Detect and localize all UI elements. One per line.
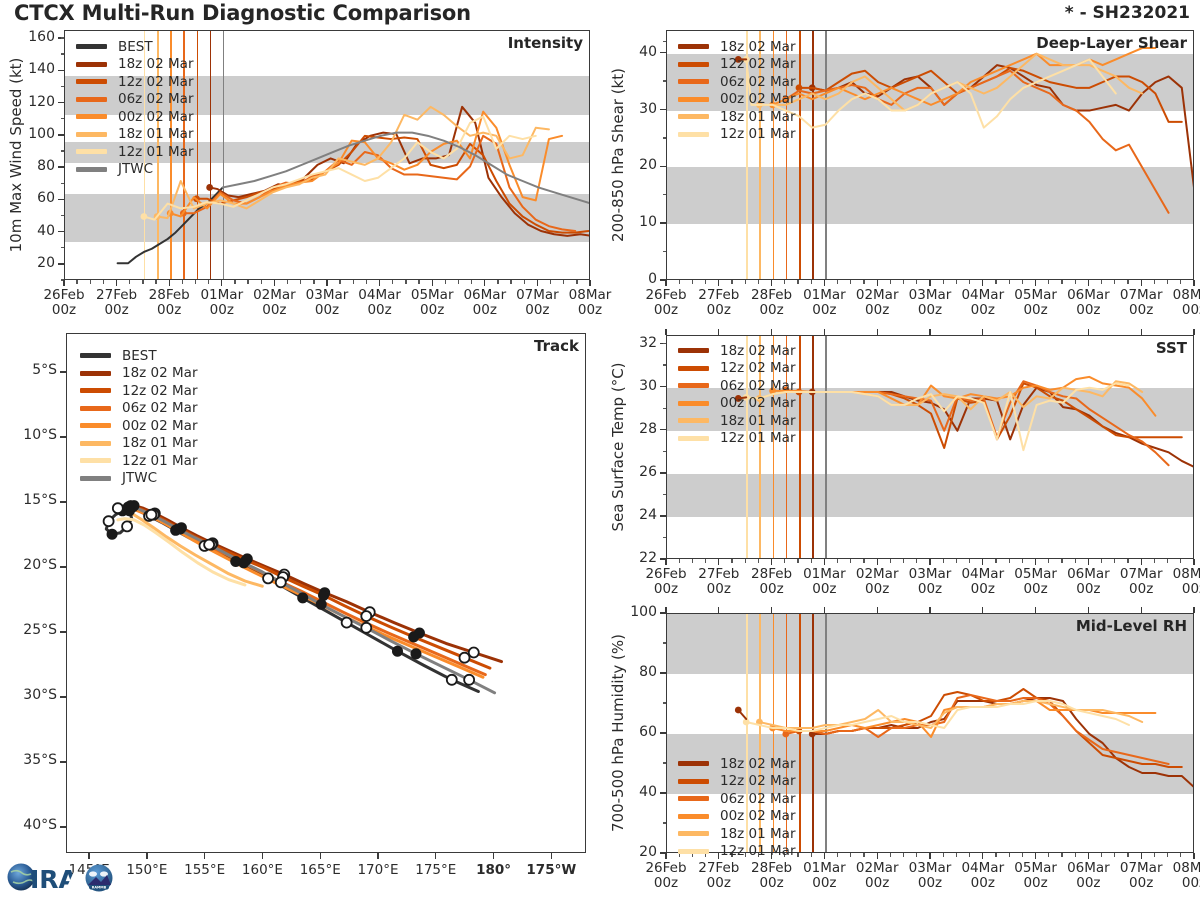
legend-swatch — [80, 353, 111, 358]
x-tick-mark — [877, 280, 878, 286]
y-tick-minor — [663, 537, 667, 538]
x-tick-minor — [1101, 559, 1102, 563]
svg-text:RAMMB: RAMMB — [92, 886, 107, 890]
x-tick-mark — [1193, 559, 1194, 565]
legend-swatch — [678, 849, 709, 854]
legend-item: 06z 02 Mar — [678, 377, 796, 395]
x-tick-minor — [863, 559, 864, 563]
legend-label: 12z 02 Mar — [118, 74, 194, 90]
legend-item: 12z 01 Mar — [76, 143, 194, 161]
x-tick-mark — [146, 853, 147, 859]
y-tick-label: 0 — [648, 272, 657, 286]
y-tick-mark — [58, 263, 64, 264]
legend-item: 18z 02 Mar — [678, 342, 796, 360]
x-tick-minor — [811, 280, 812, 284]
legend-swatch — [678, 62, 709, 67]
x-tick-mark — [771, 280, 772, 286]
legend-item: JTWC — [76, 161, 194, 179]
y-axis-label-rh: 700-500 hPa Humidity (%) — [609, 634, 627, 832]
x-tick-mark — [1035, 559, 1036, 565]
x-tick-minor — [142, 280, 143, 284]
x-tick-minor — [890, 280, 891, 284]
x-tick-minor — [1075, 280, 1076, 284]
y-tick-mark — [60, 826, 66, 827]
y-tick-label: 100 — [630, 605, 657, 619]
legend-item: 18z 01 Mar — [678, 825, 796, 843]
legend-label: 12z 01 Mar — [122, 453, 198, 469]
x-tick-minor — [576, 280, 577, 284]
x-tick-minor — [969, 559, 970, 563]
legend-sst: 18z 02 Mar12z 02 Mar06z 02 Mar00z 02 Mar… — [678, 342, 796, 447]
legend-swatch — [76, 149, 107, 154]
x-tick-minor — [916, 559, 917, 563]
panel-title-intensity: Intensity — [508, 34, 583, 52]
y-axis-label-intensity: 10m Max Wind Speed (kt) — [7, 58, 25, 253]
y-tick-label: 100 — [28, 127, 55, 141]
legend-item: 00z 02 Mar — [678, 395, 796, 413]
y-tick-label: 140 — [28, 62, 55, 76]
series-line — [786, 381, 1169, 465]
legend-item: 12z 01 Mar — [678, 430, 796, 448]
x-tick-mark-top — [824, 329, 825, 335]
series-line — [786, 71, 1169, 213]
x-tick-minor — [811, 559, 812, 563]
x-tick-minor — [155, 280, 156, 284]
x-tick-mark — [824, 559, 825, 565]
y-tick-minor — [61, 86, 65, 87]
legend-swatch — [678, 436, 709, 441]
legend-swatch — [678, 348, 709, 353]
x-tick-minor — [458, 280, 459, 284]
legend-label: 12z 01 Mar — [720, 430, 796, 446]
x-tick-mark — [718, 559, 719, 565]
x-tick-mark — [877, 559, 878, 565]
y-tick-label: 5°S — [32, 363, 57, 377]
y-tick-mark — [660, 109, 666, 110]
x-tick-minor — [758, 559, 759, 563]
y-tick-minor — [663, 451, 667, 452]
legend-label: 12z 01 Mar — [118, 144, 194, 160]
x-tick-mark — [929, 853, 930, 859]
panel-title-sst: SST — [1156, 339, 1187, 357]
y-tick-label: 35°S — [23, 753, 57, 767]
x-tick-mark-top — [665, 329, 666, 335]
x-tick-mark — [204, 853, 205, 859]
x-tick-mark — [1193, 280, 1194, 286]
x-tick-mark — [982, 559, 983, 565]
x-tick-minor — [550, 280, 551, 284]
solomon-island-0 — [206, 389, 225, 402]
x-tick-minor — [1075, 853, 1076, 857]
x-tick-minor — [445, 280, 446, 284]
legend-item: 12z 01 Mar — [80, 452, 198, 470]
x-tick-mark-top — [824, 607, 825, 613]
x-tick-minor — [1101, 280, 1102, 284]
x-tick-minor — [339, 280, 340, 284]
x-tick-minor — [1009, 853, 1010, 857]
x-tick-minor — [890, 853, 891, 857]
x-tick-mark — [1035, 853, 1036, 859]
y-tick-mark — [58, 199, 64, 200]
x-tick-minor — [418, 280, 419, 284]
y-tick-label: 10 — [639, 215, 657, 229]
y-tick-minor — [61, 53, 65, 54]
x-tick-minor — [758, 280, 759, 284]
cira-logo: IRA RAMMB — [4, 855, 124, 899]
x-tick-minor — [1180, 853, 1181, 857]
legend-item: 00z 02 Mar — [678, 91, 796, 109]
legend-label: JTWC — [118, 161, 153, 177]
x-tick-minor — [392, 280, 393, 284]
x-tick-minor — [1022, 280, 1023, 284]
x-tick-minor — [234, 280, 235, 284]
x-tick-minor — [1009, 559, 1010, 563]
x-tick-mark-top — [1035, 607, 1036, 613]
legend-label: 00z 02 Mar — [720, 395, 796, 411]
x-tick-minor — [745, 280, 746, 284]
legend-swatch — [80, 441, 111, 446]
x-tick-minor — [837, 280, 838, 284]
x-tick-minor — [76, 280, 77, 284]
x-tick-mark — [824, 853, 825, 859]
legend-item: 12z 02 Mar — [678, 773, 796, 791]
figure-root: CTCX Multi-Run Diagnostic Comparison * -… — [0, 0, 1200, 900]
x-tick-minor — [995, 559, 996, 563]
x-tick-mark — [379, 280, 380, 286]
x-tick-minor — [524, 280, 525, 284]
x-tick-minor — [1048, 559, 1049, 563]
x-tick-minor — [850, 853, 851, 857]
x-tick-mark-top — [1141, 329, 1142, 335]
y-axis-label-sst: Sea Surface Temp (°C) — [609, 362, 627, 531]
y-tick-mark — [58, 134, 64, 135]
legend-swatch — [678, 418, 709, 423]
legend-item: 06z 02 Mar — [80, 400, 198, 418]
legend-label: 18z 01 Mar — [118, 126, 194, 142]
x-tick-mark — [589, 280, 590, 286]
vanuatu-island-2 — [357, 534, 364, 542]
y-tick-mark — [660, 429, 666, 430]
legend-label: 18z 01 Mar — [720, 413, 796, 429]
panel-shear: Deep-Layer Shear010203040200-850 hPa She… — [604, 22, 1200, 317]
x-tick-minor — [784, 280, 785, 284]
legend-swatch — [678, 97, 709, 102]
y-tick-minor — [663, 762, 667, 763]
x-tick-minor — [890, 559, 891, 563]
init-marker — [141, 213, 148, 220]
legend-swatch — [80, 371, 111, 376]
x-tick-mark — [493, 853, 494, 859]
track-marker-filled — [239, 558, 249, 568]
legend-item: JTWC — [80, 470, 198, 488]
y-tick-mark — [660, 166, 666, 167]
x-tick-mark — [326, 280, 327, 286]
y-tick-minor — [61, 150, 65, 151]
series-line — [746, 59, 1116, 127]
y-tick-mark — [60, 761, 66, 762]
y-tick-label: 40 — [37, 224, 55, 238]
legend-label: 12z 02 Mar — [720, 773, 796, 789]
legend-swatch — [678, 761, 709, 766]
track-marker-filled — [411, 649, 421, 659]
series-line — [773, 377, 1156, 416]
y-tick-label: 120 — [28, 95, 55, 109]
legend-label: 00z 02 Mar — [118, 109, 194, 125]
x-tick-minor — [850, 280, 851, 284]
y-tick-minor — [663, 80, 667, 81]
storm-id-label: * - SH232021 — [1065, 3, 1190, 23]
legend-item: 12z 02 Mar — [678, 56, 796, 74]
tasmania-landmass — [86, 837, 129, 853]
x-tick-mark — [982, 280, 983, 286]
legend-shear: 18z 02 Mar12z 02 Mar06z 02 Mar00z 02 Mar… — [678, 38, 796, 143]
legend-item: BEST — [80, 347, 198, 365]
legend-label: 18z 01 Mar — [122, 435, 198, 451]
x-tick-mark — [63, 280, 64, 286]
x-tick-minor — [405, 280, 406, 284]
y-tick-minor — [663, 408, 667, 409]
x-tick-minor — [1022, 559, 1023, 563]
fiji-island-0 — [462, 532, 479, 545]
y-tick-mark — [660, 472, 666, 473]
x-tick-minor — [195, 280, 196, 284]
panel-title-track: Track — [534, 337, 579, 355]
x-tick-mark-top — [1141, 607, 1142, 613]
legend-label: BEST — [122, 348, 157, 364]
y-tick-mark — [60, 631, 66, 632]
x-tick-mark — [1141, 280, 1142, 286]
x-tick-minor — [863, 853, 864, 857]
x-tick-minor — [1101, 853, 1102, 857]
y-tick-minor — [61, 118, 65, 119]
x-tick-mark — [221, 280, 222, 286]
legend-item: 06z 02 Mar — [678, 73, 796, 91]
y-tick-label: 60 — [639, 725, 657, 739]
init-marker — [735, 707, 742, 714]
x-tick-minor — [995, 280, 996, 284]
legend-swatch — [678, 44, 709, 49]
legend-label: 18z 02 Mar — [122, 365, 198, 381]
x-tick-minor — [1048, 280, 1049, 284]
panel-title-rh: Mid-Level RH — [1076, 617, 1187, 635]
panel-rh: Mid-Level RH20406080100700-500 hPa Humid… — [604, 605, 1200, 895]
y-tick-minor — [663, 364, 667, 365]
x-tick-mark — [1141, 853, 1142, 859]
x-tick-minor — [956, 559, 957, 563]
vanuatu-island-0 — [335, 498, 349, 512]
state-border-nsw-vic — [67, 750, 147, 794]
x-tick-minor — [903, 280, 904, 284]
x-tick-mark-top — [877, 329, 878, 335]
legend-swatch — [678, 814, 709, 819]
legend-swatch — [678, 796, 709, 801]
y-tick-label: 40 — [639, 785, 657, 799]
x-tick-mark-top — [1088, 607, 1089, 613]
x-tick-minor — [1180, 559, 1181, 563]
series-line — [759, 701, 1142, 728]
legend-item: 18z 02 Mar — [678, 38, 796, 56]
x-tick-minor — [1022, 853, 1023, 857]
x-tick-mark-top — [771, 329, 772, 335]
legend-item: 18z 01 Mar — [678, 108, 796, 126]
x-tick-minor — [784, 559, 785, 563]
y-tick-label: 40 — [639, 45, 657, 59]
x-tick-mark — [1035, 280, 1036, 286]
legend-item: 18z 02 Mar — [678, 755, 796, 773]
state-border-qld-nsw — [67, 684, 188, 685]
x-tick-minor — [261, 280, 262, 284]
legend-item: 06z 02 Mar — [678, 790, 796, 808]
x-tick-mark — [877, 853, 878, 859]
x-tick-minor — [705, 280, 706, 284]
x-tick-mark-top — [1088, 329, 1089, 335]
x-tick-mark-top — [718, 329, 719, 335]
x-tick-minor — [679, 280, 680, 284]
x-tick-minor — [1009, 280, 1010, 284]
x-tick-minor — [943, 559, 944, 563]
x-tick-minor — [1167, 559, 1168, 563]
x-tick-minor — [208, 280, 209, 284]
legend-item: 06z 02 Mar — [76, 91, 194, 109]
panel-track: Track5°S10°S15°S20°S25°S30°S35°S40°S145°… — [0, 325, 600, 890]
x-tick-mark — [1193, 853, 1194, 859]
legend-item: 18z 01 Mar — [76, 126, 194, 144]
x-tick-minor — [353, 280, 354, 284]
legend-label: BEST — [118, 39, 153, 55]
legend-label: 12z 02 Mar — [720, 56, 796, 72]
legend-item: 18z 01 Mar — [678, 412, 796, 430]
track-marker-open — [361, 623, 371, 633]
y-tick-label: 60 — [37, 191, 55, 205]
solomon-island-3 — [266, 430, 283, 442]
x-tick-minor — [956, 280, 957, 284]
legend-swatch — [678, 779, 709, 784]
legend-swatch — [76, 62, 107, 67]
y-tick-mark — [60, 501, 66, 502]
y-tick-label: 32 — [639, 336, 657, 350]
y-tick-minor — [663, 642, 667, 643]
x-tick-minor — [903, 559, 904, 563]
y-axis-label-shear: 200-850 hPa Shear (kt) — [609, 68, 627, 242]
x-tick-mark — [665, 280, 666, 286]
legend-swatch — [76, 79, 107, 84]
x-tick-label: 08Mar00z — [1160, 861, 1200, 891]
x-tick-label: 175°W — [517, 863, 585, 878]
legend-swatch — [678, 132, 709, 137]
y-tick-minor — [663, 194, 667, 195]
y-tick-mark — [58, 102, 64, 103]
x-tick-mark-top — [1193, 607, 1194, 613]
nz-south-island — [339, 836, 428, 853]
legend-label: JTWC — [122, 470, 157, 486]
x-tick-minor — [1154, 559, 1155, 563]
legend-swatch — [76, 97, 107, 102]
x-tick-mark — [929, 559, 930, 565]
legend-item: 00z 02 Mar — [678, 808, 796, 826]
y-tick-label: 15°S — [23, 493, 57, 507]
legend-label: 18z 02 Mar — [720, 39, 796, 55]
x-tick-minor — [731, 559, 732, 563]
track-marker-open — [104, 516, 114, 526]
y-tick-mark — [60, 696, 66, 697]
solomon-island-4 — [285, 441, 293, 449]
solomon-island-1 — [224, 404, 242, 416]
x-tick-mark — [771, 559, 772, 565]
x-tick-minor — [300, 280, 301, 284]
track-line — [134, 506, 501, 662]
x-tick-minor — [510, 280, 511, 284]
x-tick-minor — [943, 853, 944, 857]
legend-label: 12z 01 Mar — [720, 843, 796, 859]
legend-item: 12z 01 Mar — [678, 843, 796, 861]
y-tick-mark — [58, 70, 64, 71]
x-tick-minor — [1061, 280, 1062, 284]
legend-item: 12z 02 Mar — [678, 360, 796, 378]
x-tick-minor — [1167, 280, 1168, 284]
x-tick-minor — [1127, 853, 1128, 857]
x-tick-minor — [916, 280, 917, 284]
y-tick-minor — [663, 137, 667, 138]
x-tick-minor — [797, 559, 798, 563]
y-tick-label: 20 — [639, 845, 657, 859]
y-tick-label: 80 — [37, 159, 55, 173]
fiji-island-1 — [483, 523, 497, 532]
y-tick-mark — [660, 515, 666, 516]
track-marker-open — [469, 648, 479, 658]
x-tick-minor — [1154, 280, 1155, 284]
track-marker-filled — [298, 593, 308, 603]
track-marker-open — [361, 611, 371, 621]
x-tick-minor — [1061, 853, 1062, 857]
track-marker-filled — [316, 599, 326, 609]
x-tick-minor — [863, 280, 864, 284]
x-tick-minor — [745, 559, 746, 563]
track-marker-filled — [409, 632, 419, 642]
legend-swatch — [80, 406, 111, 411]
x-tick-mark — [1088, 853, 1089, 859]
panel-sst: SST222426283032Sea Surface Temp (°C)26Fe… — [604, 327, 1200, 595]
x-tick-minor — [247, 280, 248, 284]
legend-swatch — [76, 114, 107, 119]
legend-item: 12z 02 Mar — [80, 382, 198, 400]
x-tick-minor — [366, 280, 367, 284]
y-tick-mark — [660, 222, 666, 223]
x-tick-minor — [1061, 559, 1062, 563]
x-tick-minor — [129, 280, 130, 284]
y-tick-label: 30 — [639, 379, 657, 393]
legend-label: 06z 02 Mar — [720, 74, 796, 90]
legend-label: 18z 02 Mar — [720, 343, 796, 359]
legend-swatch — [678, 79, 709, 84]
legend-label: 18z 02 Mar — [720, 756, 796, 772]
x-tick-mark — [665, 559, 666, 565]
x-tick-mark-top — [665, 607, 666, 613]
x-tick-minor — [969, 280, 970, 284]
y-tick-minor — [61, 215, 65, 216]
legend-track: BEST18z 02 Mar12z 02 Mar06z 02 Mar00z 02… — [80, 347, 198, 487]
y-tick-label: 10°S — [23, 428, 57, 442]
nz-north-island — [407, 757, 476, 848]
y-tick-mark — [660, 386, 666, 387]
x-tick-mark — [484, 280, 485, 286]
legend-intensity: BEST18z 02 Mar12z 02 Mar06z 02 Mar00z 02… — [76, 38, 194, 178]
x-tick-mark-top — [929, 607, 930, 613]
y-tick-minor — [663, 822, 667, 823]
y-tick-minor — [61, 247, 65, 248]
x-tick-minor — [103, 280, 104, 284]
x-tick-minor — [797, 280, 798, 284]
x-tick-mark-top — [982, 607, 983, 613]
